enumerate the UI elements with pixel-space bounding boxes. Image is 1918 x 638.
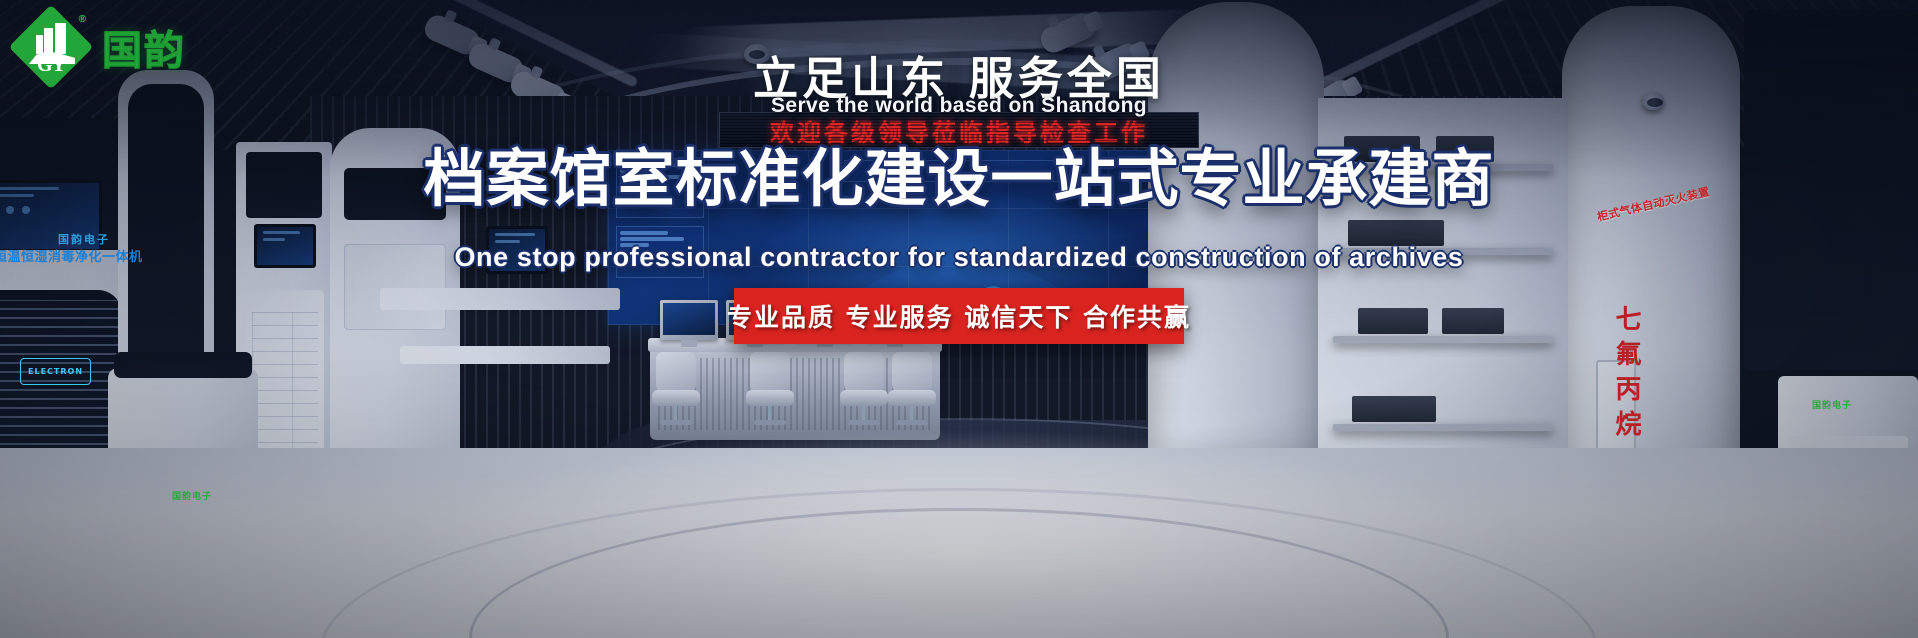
wall-shelf-upper (380, 288, 620, 310)
brand-name[interactable]: 国韵 (102, 18, 186, 76)
right-gas-suppression-cabinet (1562, 6, 1740, 518)
hero-sub-title: One stop professional contractor for sta… (454, 242, 1463, 273)
pillar-sensor-icon (1642, 92, 1664, 110)
office-chair (838, 352, 890, 426)
cart-handle (114, 352, 252, 378)
label-left-purifier: 恒温恒湿消毒净化一体机 (0, 246, 143, 265)
logo-monogram: GY (37, 54, 65, 77)
hvac-panel (344, 244, 446, 330)
label-right-cabinet-vertical: 七氟丙烷 (1608, 305, 1645, 445)
office-chair (744, 352, 796, 426)
gy-diamond-logo-icon[interactable]: GY ® (14, 10, 88, 84)
label-right-unit-brand: 国韵电子 (1812, 398, 1852, 411)
office-chair (650, 352, 702, 426)
hero-headline-en: Serve the world based on Shandong (771, 94, 1147, 118)
site-logo[interactable]: GY ® 国韵 (14, 10, 186, 84)
registered-trademark-icon: ® (79, 14, 86, 25)
hero-banner: 柜式气体自动灭火装置 七氟丙烷 恒温恒湿消毒净化一体机 国韵电子 ELECTRO… (0, 0, 1918, 638)
label-left-panel-tag: ELECTRON (20, 358, 91, 385)
wall-shelf-lower (400, 346, 610, 364)
workstation-monitor (660, 300, 718, 340)
left-cabinet-vent (246, 152, 322, 218)
label-cart-brand: 国韵电子 (172, 489, 212, 502)
slogan-text: 专业品质 专业服务 诚信天下 合作共赢 (727, 298, 1191, 334)
hero-main-title: 档案馆室标准化建设一站式专业承建商 (423, 128, 1494, 218)
label-left-brand: 国韵电子 (58, 231, 110, 247)
right-dark-column (1744, 10, 1918, 370)
slogan-banner: 专业品质 专业服务 诚信天下 合作共赢 (734, 288, 1184, 344)
left-cabinet-display (254, 224, 316, 268)
right-curved-pillar (1148, 2, 1324, 472)
left-pillar-glass (128, 84, 204, 374)
office-chair (886, 352, 938, 426)
